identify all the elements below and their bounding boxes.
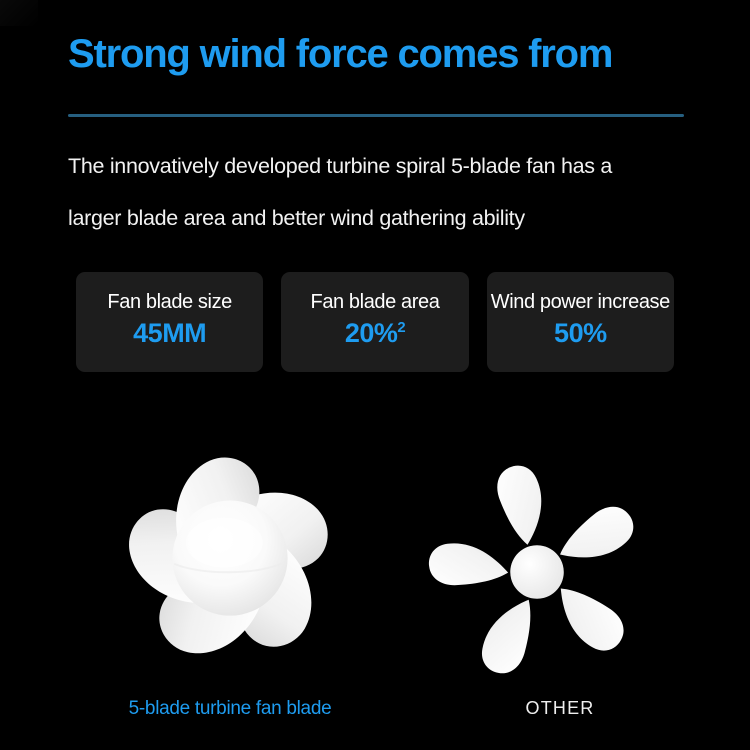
stat-card-value: 50% bbox=[554, 317, 607, 349]
gallery-caption-other: OTHER bbox=[420, 698, 700, 719]
stat-card-fan-blade-size: Fan blade size 45MM bbox=[76, 272, 263, 372]
turbine-fan-blade-icon bbox=[105, 440, 355, 680]
stat-value-text: 20% bbox=[345, 318, 398, 348]
product-info-page: Strong wind force comes from The innovat… bbox=[0, 0, 750, 750]
fan-comparison-gallery bbox=[0, 420, 750, 690]
stat-card-value: 45MM bbox=[133, 317, 206, 349]
stat-card-label: Fan blade area bbox=[311, 290, 440, 315]
title-divider bbox=[68, 114, 684, 117]
description-text: The innovatively developed turbine spira… bbox=[68, 140, 692, 244]
stat-card-label: Fan blade size bbox=[107, 290, 231, 315]
stat-card-wind-power-increase: Wind power increase 50% bbox=[487, 272, 674, 372]
description-line-2: larger blade area and better wind gather… bbox=[68, 192, 692, 244]
stat-card-fan-blade-area: Fan blade area 20%2 bbox=[281, 272, 468, 372]
stat-card-value: 20%2 bbox=[345, 317, 405, 349]
stat-card-label: Wind power increase bbox=[491, 290, 670, 315]
stat-value-superscript: 2 bbox=[397, 320, 405, 336]
stat-value-text: 50% bbox=[554, 318, 607, 348]
corner-sheen bbox=[0, 0, 38, 26]
stat-value-text: 45MM bbox=[133, 318, 206, 348]
page-title: Strong wind force comes from bbox=[68, 32, 708, 76]
description-line-1: The innovatively developed turbine spira… bbox=[68, 140, 692, 192]
standard-fan-blade-icon bbox=[425, 465, 650, 680]
gallery-caption-turbine: 5-blade turbine fan blade bbox=[0, 698, 460, 720]
stat-card-list: Fan blade size 45MM Fan blade area 20%2 … bbox=[76, 272, 674, 372]
